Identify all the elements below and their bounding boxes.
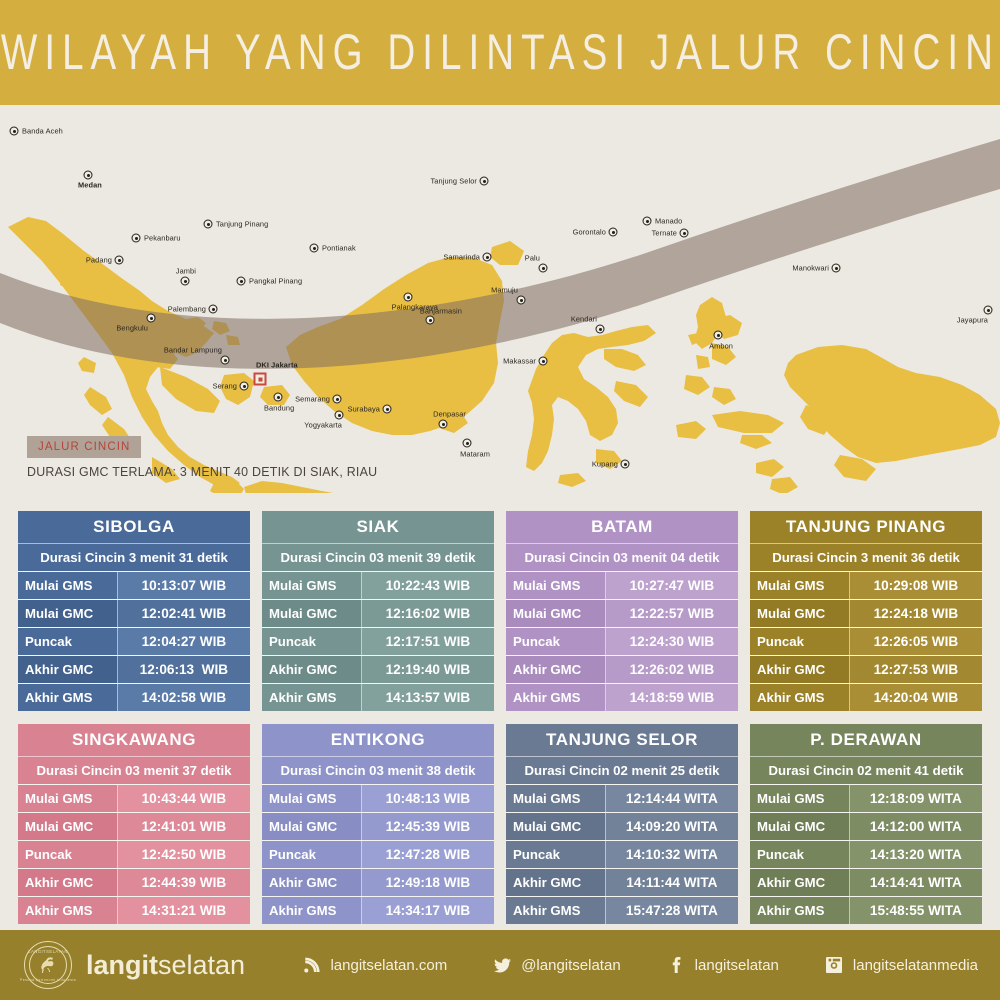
row-value: 14:14:41 WITA [850, 869, 982, 896]
card-row: Mulai GMS12:18:09 WITA [750, 784, 982, 812]
card-title: SIBOLGA [18, 511, 250, 543]
city-label-medan: Medan [78, 181, 102, 190]
city-dot-palu [539, 264, 548, 273]
city-label-makassar: Makassar [503, 357, 536, 366]
city-dot-bandar-lampung [221, 356, 230, 365]
row-value: 10:48:13 WIB [362, 785, 494, 812]
card-row: Akhir GMC12:44:39 WIB [18, 868, 250, 896]
social-instagram[interactable]: langitselatanmedia [825, 956, 978, 975]
city-dot-banjarmasin [426, 316, 435, 325]
row-label: Akhir GMC [750, 656, 850, 683]
city-label-palu: Palu [525, 254, 540, 263]
card-row: Akhir GMS14:13:57 WIB [262, 683, 494, 711]
card-title: SIAK [262, 511, 494, 543]
city-label-mamuju: Mamuju [491, 286, 518, 295]
card-duration: Durasi Cincin 03 menit 04 detik [506, 543, 738, 571]
legend-chip-jalur-cincin: JALUR CINCIN [27, 436, 141, 458]
row-value: 12:45:39 WIB [362, 813, 494, 840]
city-label-padang: Padang [86, 256, 112, 265]
city-label-jambi: Jambi [176, 267, 196, 276]
row-label: Puncak [262, 628, 362, 655]
row-value: 12:42:50 WIB [118, 841, 250, 868]
row-label: Mulai GMC [18, 813, 118, 840]
city-label-gorontalo: Gorontalo [573, 228, 606, 237]
indonesia-map: Banda Aceh Medan Tanjung Pinang Pekanbar… [0, 105, 1000, 493]
row-value: 10:22:43 WIB [362, 572, 494, 599]
brand-bold-part: langit [86, 950, 158, 980]
row-label: Mulai GMC [262, 600, 362, 627]
row-label: Akhir GMS [506, 897, 606, 924]
card-row: Puncak12:04:27 WIB [18, 627, 250, 655]
row-value: 14:13:57 WIB [362, 684, 494, 711]
city-dot-jayapura [984, 306, 993, 315]
city-dot-gorontalo [609, 228, 618, 237]
timing-card: P. DERAWANDurasi Cincin 02 menit 41 deti… [750, 724, 982, 924]
social-facebook-label: langitselatan [695, 957, 779, 974]
city-label-bandar-lampung: Bandar Lampung [164, 346, 222, 355]
row-label: Akhir GMS [18, 684, 118, 711]
facebook-icon [667, 956, 686, 975]
card-title: TANJUNG SELOR [506, 724, 738, 756]
map-graphic [0, 105, 1000, 493]
city-label-banjarmasin: Banjarmasin [420, 307, 462, 316]
city-dot-manokwari [832, 264, 841, 273]
row-label: Mulai GMS [18, 572, 118, 599]
city-dot-banda-aceh [10, 127, 19, 136]
timing-card: SIAKDurasi Cincin 03 menit 39 detikMulai… [262, 511, 494, 711]
city-dot-jambi [181, 277, 190, 286]
instagram-icon [825, 956, 844, 975]
city-label-palembang: Palembang [168, 305, 206, 314]
row-label: Akhir GMC [262, 869, 362, 896]
city-dot-kendari [596, 325, 605, 334]
seal-top-text: LANGITSELATAN [28, 949, 68, 954]
city-dot-palangkaraya [404, 293, 413, 302]
twitter-icon [493, 956, 512, 975]
card-row: Mulai GMS10:43:44 WIB [18, 784, 250, 812]
row-label: Akhir GMC [506, 869, 606, 896]
row-label: Mulai GMS [506, 785, 606, 812]
social-twitter[interactable]: @langitselatan [493, 956, 620, 975]
card-duration: Durasi Cincin 3 menit 36 detik [750, 543, 982, 571]
city-label-semarang: Semarang [295, 395, 330, 404]
row-value: 10:13:07 WIB [118, 572, 250, 599]
card-row: Akhir GMS14:31:21 WIB [18, 896, 250, 924]
infographic-page: WILAYAH YANG DILINTASI JALUR CINCIN [0, 0, 1000, 1000]
card-row: Puncak14:13:20 WITA [750, 840, 982, 868]
row-value: 14:20:04 WIB [850, 684, 982, 711]
row-value: 10:29:08 WIB [850, 572, 982, 599]
city-label-mataram: Mataram [460, 450, 490, 459]
card-row: Puncak12:24:30 WIB [506, 627, 738, 655]
row-label: Akhir GMS [750, 684, 850, 711]
timing-card: ENTIKONGDurasi Cincin 03 menit 38 detikM… [262, 724, 494, 924]
city-label-jayapura: Jayapura [957, 316, 988, 325]
card-row: Mulai GMC12:02:41 WIB [18, 599, 250, 627]
row-label: Mulai GMC [18, 600, 118, 627]
city-dot-manado [643, 217, 652, 226]
city-dot-semarang [333, 395, 342, 404]
card-row: Akhir GMC12:27:53 WIB [750, 655, 982, 683]
card-row: Akhir GMC12:19:40 WIB [262, 655, 494, 683]
row-value: 14:09:20 WITA [606, 813, 738, 840]
row-label: Mulai GMS [262, 572, 362, 599]
header-banner: WILAYAH YANG DILINTASI JALUR CINCIN [0, 0, 1000, 105]
card-duration: Durasi Cincin 03 menit 37 detik [18, 756, 250, 784]
city-label-surabaya: Surabaya [348, 405, 380, 414]
card-row: Mulai GMC12:24:18 WIB [750, 599, 982, 627]
row-value: 12:24:30 WIB [606, 628, 738, 655]
city-dot-tanjung-pinang [204, 220, 213, 229]
card-row: Puncak12:47:28 WIB [262, 840, 494, 868]
card-row: Mulai GMS10:48:13 WIB [262, 784, 494, 812]
city-dot-bandung [274, 393, 283, 402]
langitselatan-seal-logo: LANGITSELATAN Pesona Astronomi Indonesia [24, 941, 72, 989]
social-twitter-label: @langitselatan [521, 957, 620, 974]
city-label-pangkal-pinang: Pangkal Pinang [249, 277, 302, 286]
city-label-tanjung-pinang: Tanjung Pinang [216, 220, 268, 229]
card-title: TANJUNG PINANG [750, 511, 982, 543]
card-row: Akhir GMC12:06:13 WIB [18, 655, 250, 683]
city-label-samarinda: Samarinda [443, 253, 480, 262]
card-row: Mulai GMC14:12:00 WITA [750, 812, 982, 840]
row-label: Puncak [18, 841, 118, 868]
city-dot-ambon [714, 331, 723, 340]
row-label: Akhir GMS [506, 684, 606, 711]
social-facebook[interactable]: langitselatan [667, 956, 779, 975]
city-label-pontianak: Pontianak [322, 244, 356, 253]
row-label: Mulai GMS [18, 785, 118, 812]
row-value: 12:22:57 WIB [606, 600, 738, 627]
social-website[interactable]: langitselatan.com [302, 956, 447, 975]
city-label-ambon: Ambon [709, 342, 733, 351]
row-value: 14:02:58 WIB [118, 684, 250, 711]
row-label: Akhir GMC [18, 656, 118, 683]
row-label: Puncak [750, 841, 850, 868]
card-row: Mulai GMC12:45:39 WIB [262, 812, 494, 840]
card-title: P. DERAWAN [750, 724, 982, 756]
card-row: Mulai GMC12:16:02 WIB [262, 599, 494, 627]
city-dot-pekanbaru [132, 234, 141, 243]
timing-card: BATAMDurasi Cincin 03 menit 04 detikMula… [506, 511, 738, 711]
row-label: Puncak [506, 841, 606, 868]
row-value: 15:47:28 WITA [606, 897, 738, 924]
row-value: 12:17:51 WIB [362, 628, 494, 655]
city-label-pekanbaru: Pekanbaru [144, 234, 181, 243]
row-value: 12:14:44 WITA [606, 785, 738, 812]
row-label: Mulai GMC [506, 813, 606, 840]
row-label: Akhir GMC [262, 656, 362, 683]
row-value: 14:34:17 WIB [362, 897, 494, 924]
card-duration: Durasi Cincin 03 menit 39 detik [262, 543, 494, 571]
city-dot-yogyakarta [335, 411, 344, 420]
row-label: Mulai GMC [262, 813, 362, 840]
card-row: Akhir GMS15:48:55 WITA [750, 896, 982, 924]
city-dot-kupang [621, 460, 630, 469]
timing-card: SIBOLGADurasi Cincin 3 menit 31 detikMul… [18, 511, 250, 711]
city-label-tanjung-selor: Tanjung Selor [431, 177, 478, 186]
city-dot-medan [84, 171, 93, 180]
city-timing-cards: SIBOLGADurasi Cincin 3 menit 31 detikMul… [18, 511, 982, 924]
row-label: Akhir GMS [262, 897, 362, 924]
timing-card: TANJUNG PINANGDurasi Cincin 3 menit 36 d… [750, 511, 982, 711]
row-value: 12:49:18 WIB [362, 869, 494, 896]
brand-light-part: selatan [158, 950, 245, 980]
city-label-kendari: Kendari [571, 315, 597, 324]
brand-wordmark: langitselatan [86, 950, 245, 981]
city-dot-makassar [539, 357, 548, 366]
city-dot-bengkulu [147, 314, 156, 323]
card-row: Akhir GMC14:14:41 WITA [750, 868, 982, 896]
row-value: 12:44:39 WIB [118, 869, 250, 896]
brand-block: LANGITSELATAN Pesona Astronomi Indonesia… [24, 941, 245, 989]
row-label: Akhir GMS [18, 897, 118, 924]
card-row: Mulai GMC14:09:20 WITA [506, 812, 738, 840]
card-duration: Durasi Cincin 02 menit 25 detik [506, 756, 738, 784]
row-value: 12:24:18 WIB [850, 600, 982, 627]
city-dot-padang [115, 256, 124, 265]
card-row: Akhir GMC12:49:18 WIB [262, 868, 494, 896]
card-row: Mulai GMS10:13:07 WIB [18, 571, 250, 599]
city-label-bengkulu: Bengkulu [116, 324, 148, 333]
row-value: 14:13:20 WITA [850, 841, 982, 868]
row-value: 12:06:13 WIB [118, 656, 250, 683]
card-row: Mulai GMC12:22:57 WIB [506, 599, 738, 627]
city-dot-serang [240, 382, 249, 391]
row-label: Akhir GMC [18, 869, 118, 896]
social-website-label: langitselatan.com [330, 957, 447, 974]
city-label-manado: Manado [655, 217, 682, 226]
card-row: Akhir GMS15:47:28 WITA [506, 896, 738, 924]
social-instagram-label: langitselatanmedia [853, 957, 978, 974]
legend-caption: DURASI GMC TERLAMA: 3 MENIT 40 DETIK DI … [27, 464, 377, 479]
card-duration: Durasi Cincin 3 menit 31 detik [18, 543, 250, 571]
card-row: Mulai GMS10:27:47 WIB [506, 571, 738, 599]
row-value: 15:48:55 WITA [850, 897, 982, 924]
row-value: 14:18:59 WIB [606, 684, 738, 711]
city-label-manokwari: Manokwari [792, 264, 829, 273]
row-value: 12:41:01 WIB [118, 813, 250, 840]
row-value: 12:02:41 WIB [118, 600, 250, 627]
city-label-yogyakarta: Yogyakarta [304, 421, 342, 430]
row-value: 12:27:53 WIB [850, 656, 982, 683]
row-label: Akhir GMC [750, 869, 850, 896]
card-row: Puncak14:10:32 WITA [506, 840, 738, 868]
row-label: Mulai GMC [750, 600, 850, 627]
row-label: Puncak [506, 628, 606, 655]
row-label: Mulai GMC [750, 813, 850, 840]
row-value: 12:16:02 WIB [362, 600, 494, 627]
card-row: Akhir GMS14:02:58 WIB [18, 683, 250, 711]
city-dot-samarinda [483, 253, 492, 262]
social-links: langitselatan.com @langitselatan langits… [302, 956, 978, 975]
city-label-banda-aceh: Banda Aceh [22, 127, 63, 136]
row-value: 12:18:09 WITA [850, 785, 982, 812]
city-marker-dki-jakarta [254, 373, 267, 386]
row-label: Mulai GMS [506, 572, 606, 599]
card-row: Akhir GMS14:34:17 WIB [262, 896, 494, 924]
row-label: Akhir GMS [262, 684, 362, 711]
timing-card: TANJUNG SELORDurasi Cincin 02 menit 25 d… [506, 724, 738, 924]
card-duration: Durasi Cincin 03 menit 38 detik [262, 756, 494, 784]
row-label: Akhir GMC [506, 656, 606, 683]
row-label: Puncak [262, 841, 362, 868]
city-dot-palembang [209, 305, 218, 314]
row-value: 10:27:47 WIB [606, 572, 738, 599]
seal-bottom-text: Pesona Astronomi Indonesia [20, 978, 76, 982]
card-duration: Durasi Cincin 02 menit 41 detik [750, 756, 982, 784]
card-row: Puncak12:17:51 WIB [262, 627, 494, 655]
row-label: Mulai GMS [750, 785, 850, 812]
row-label: Mulai GMC [506, 600, 606, 627]
timing-card: SINGKAWANGDurasi Cincin 03 menit 37 deti… [18, 724, 250, 924]
city-label-denpasar: Denpasar [433, 410, 466, 419]
card-row: Akhir GMS14:18:59 WIB [506, 683, 738, 711]
card-row: Mulai GMS10:22:43 WIB [262, 571, 494, 599]
card-row: Mulai GMS10:29:08 WIB [750, 571, 982, 599]
city-dot-denpasar [439, 420, 448, 429]
row-value: 12:26:05 WIB [850, 628, 982, 655]
card-row: Puncak12:42:50 WIB [18, 840, 250, 868]
row-value: 12:19:40 WIB [362, 656, 494, 683]
row-label: Mulai GMS [262, 785, 362, 812]
row-value: 14:11:44 WITA [606, 869, 738, 896]
footer-bar: LANGITSELATAN Pesona Astronomi Indonesia… [0, 930, 1000, 1000]
card-row: Mulai GMC12:41:01 WIB [18, 812, 250, 840]
city-label-dki-jakarta: DKI Jakarta [256, 361, 298, 370]
card-title: SINGKAWANG [18, 724, 250, 756]
city-dot-pangkal-pinang [237, 277, 246, 286]
card-row: Akhir GMC12:26:02 WIB [506, 655, 738, 683]
row-value: 12:04:27 WIB [118, 628, 250, 655]
row-label: Akhir GMS [750, 897, 850, 924]
city-label-ternate: Ternate [652, 229, 677, 238]
row-value: 12:26:02 WIB [606, 656, 738, 683]
row-label: Puncak [18, 628, 118, 655]
card-row: Mulai GMS12:14:44 WITA [506, 784, 738, 812]
city-dot-mataram [463, 439, 472, 448]
card-row: Akhir GMS14:20:04 WIB [750, 683, 982, 711]
row-value: 10:43:44 WIB [118, 785, 250, 812]
row-value: 12:47:28 WIB [362, 841, 494, 868]
city-label-bandung: Bandung [264, 404, 294, 413]
card-title: ENTIKONG [262, 724, 494, 756]
row-label: Puncak [750, 628, 850, 655]
page-title: WILAYAH YANG DILINTASI JALUR CINCIN [0, 24, 999, 81]
city-dot-mamuju [517, 296, 526, 305]
city-dot-tanjung-selor [480, 177, 489, 186]
city-dot-surabaya [383, 405, 392, 414]
row-label: Mulai GMS [750, 572, 850, 599]
row-value: 14:12:00 WITA [850, 813, 982, 840]
row-value: 14:31:21 WIB [118, 897, 250, 924]
rss-icon [302, 956, 321, 975]
row-value: 14:10:32 WITA [606, 841, 738, 868]
city-dot-ternate [680, 229, 689, 238]
card-row: Puncak12:26:05 WIB [750, 627, 982, 655]
card-row: Akhir GMC14:11:44 WITA [506, 868, 738, 896]
city-label-kupang: Kupang [592, 460, 618, 469]
card-title: BATAM [506, 511, 738, 543]
city-label-serang: Serang [213, 382, 237, 391]
city-dot-pontianak [310, 244, 319, 253]
